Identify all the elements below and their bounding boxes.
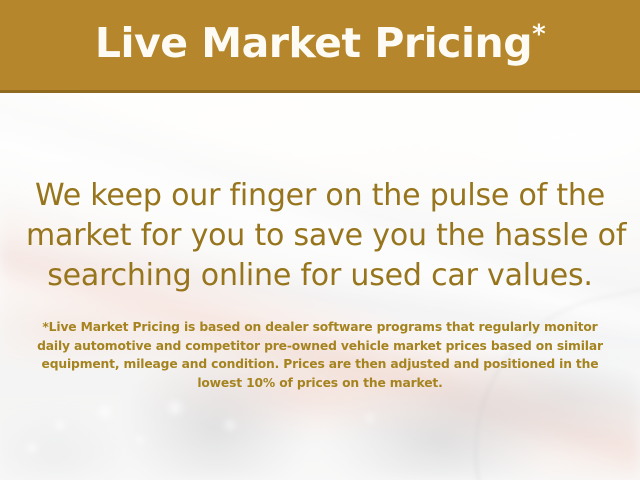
headline-line: market for you to save you the hassle of: [26, 216, 614, 256]
header-band-bottom-edge: [0, 90, 640, 93]
header-band: Live Market Pricing*: [0, 0, 640, 90]
headline-line: searching online for used car values.: [26, 256, 614, 296]
page-title-text: Live Market Pricing: [95, 19, 532, 67]
disclaimer-line: daily automotive and competitor pre-owne…: [22, 337, 618, 356]
disclaimer-line: *Live Market Pricing is based on dealer …: [22, 318, 618, 337]
headline-line: We keep our finger on the pulse of the: [26, 176, 614, 216]
headline-paragraph: We keep our finger on the pulse of the m…: [26, 176, 614, 296]
disclaimer-line: lowest 10% of prices on the market.: [22, 374, 618, 393]
page-title-asterisk: *: [532, 19, 545, 49]
page-title: Live Market Pricing*: [95, 23, 545, 68]
marketing-slide: Live Market Pricing* We keep our finger …: [0, 0, 640, 480]
disclaimer-line: equipment, mileage and condition. Prices…: [22, 355, 618, 374]
disclaimer-paragraph: *Live Market Pricing is based on dealer …: [22, 318, 618, 392]
